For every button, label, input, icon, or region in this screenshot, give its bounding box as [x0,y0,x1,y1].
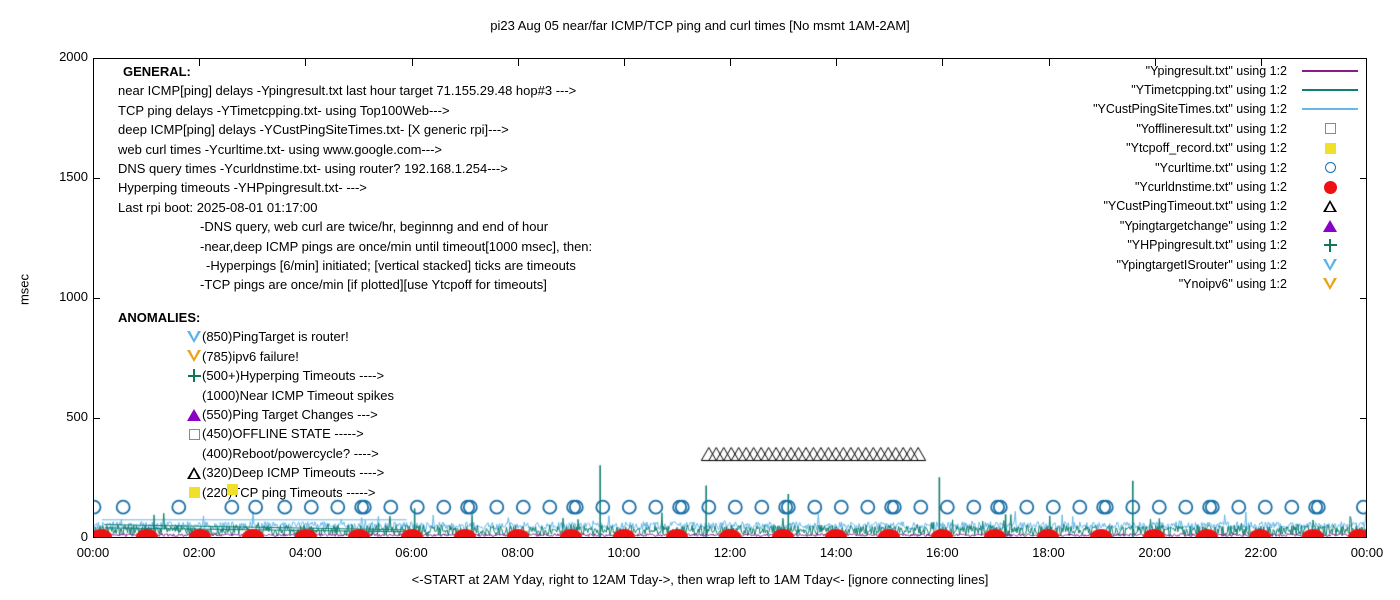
legend-entry-label: "Yofflineresult.txt" using 1:2 [1136,122,1287,136]
plus-marker [1324,239,1337,252]
triangle-down-open-marker [187,331,201,343]
legend-entry-label: "YHPpingresult.txt" using 1:2 [1127,238,1287,252]
legend-entry: "YCustPingTimeout.txt" using 1:2 [1007,197,1367,216]
legend-entry-sample [1293,197,1367,216]
anomaly-label: (320)Deep ICMP Timeouts ----> [202,465,384,480]
legend-line-swatch [1302,89,1358,91]
square-filled-marker [189,487,200,498]
x-axis-tick-label: 00:00 [58,545,128,560]
anomaly-item: (550)Ping Target Changes ---> [118,405,538,424]
general-note-line: deep ICMP[ping] delays -YCustPingSiteTim… [118,120,758,139]
x-axis-tick-label: 08:00 [483,545,553,560]
anomaly-item: (850)PingTarget is router! [118,327,538,346]
triangle-up-filled-marker [187,409,201,421]
legend-entry-label: "Ycurltime.txt" using 1:2 [1155,161,1287,175]
legend-line-swatch [1302,108,1358,110]
legend-entry: "Yofflineresult.txt" using 1:2 [1007,119,1367,138]
general-note-line: Hyperping timeouts -YHPpingresult.txt- -… [118,178,758,197]
legend-entry-sample [1293,236,1367,255]
general-note-line: DNS query times -Ycurldnstime.txt- using… [118,159,758,178]
general-note-line: web curl times -Ycurltime.txt- using www… [118,140,758,159]
anomaly-label: (550)Ping Target Changes ---> [202,407,378,422]
anomaly-marker [186,463,202,482]
general-header: GENERAL: [118,62,758,81]
y-axis-tick-label: 0 [38,529,88,544]
anomaly-item: (400)Reboot/powercycle? ----> [118,444,538,463]
x-axis-tick-label: 10:00 [589,545,659,560]
legend-entry-sample [1293,255,1367,274]
legend-entry-label: "YpingtargetISrouter" using 1:2 [1116,258,1287,272]
triangle-down-open-orange-marker [1323,278,1337,290]
anomaly-item: (220)TCP ping Timeouts -----> [118,483,538,502]
general-note-subline: -DNS query, web curl are twice/hr, begin… [118,217,758,236]
anomaly-marker [186,347,202,366]
anomaly-item: (785)ipv6 failure! [118,347,538,366]
legend-entry-sample [1293,100,1367,119]
square-filled-marker [1325,143,1336,154]
legend-entry: "YCustPingSiteTimes.txt" using 1:2 [1007,100,1367,119]
general-note-subline: -near,deep ICMP pings are once/min until… [118,237,758,256]
legend-entry-label: "YCustPingSiteTimes.txt" using 1:2 [1093,102,1287,116]
x-axis-tick-label: 06:00 [377,545,447,560]
anomaly-item: (320)Deep ICMP Timeouts ----> [118,463,538,482]
tcp-timeout-square-marker [227,484,238,495]
general-note-subline: -TCP pings are once/min [if plotted][use… [118,275,758,294]
x-axis-tick-label: 12:00 [695,545,765,560]
anomaly-item: (1000)Near ICMP Timeout spikes [118,386,538,405]
x-axis-tick-label: 20:00 [1120,545,1190,560]
legend-entry-label: "Ypingresult.txt" using 1:2 [1146,64,1287,78]
y-axis-tick-label: 2000 [38,49,88,64]
anomaly-marker [186,405,202,424]
triangle-down-open-marker [1323,259,1337,271]
square-open-marker [1325,123,1336,134]
legend-entry: "YHPpingresult.txt" using 1:2 [1007,236,1367,255]
x-axis-tick-label: 00:00 [1332,545,1400,560]
legend-entry-sample [1293,80,1367,99]
triangle-up-open-marker [1323,200,1337,212]
legend-entry: "Ypingtargetchange" using 1:2 [1007,216,1367,235]
x-axis-tick-label: 04:00 [270,545,340,560]
general-note-line: TCP ping delays -YTimetcpping.txt- using… [118,101,758,120]
general-note-line: Last rpi boot: 2025-08-01 01:17:00 [118,198,758,217]
general-note-subline: -Hyperpings [6/min] initiated; [vertical… [118,256,758,275]
legend-entry: "Ycurldnstime.txt" using 1:2 [1007,177,1367,196]
chart-title: pi23 Aug 05 near/far ICMP/TCP ping and c… [0,18,1400,33]
y-axis-tick-label: 1000 [38,289,88,304]
anomaly-label: (1000)Near ICMP Timeout spikes [202,388,394,403]
anomaly-label: (785)ipv6 failure! [202,349,299,364]
legend-entry: "YpingtargetISrouter" using 1:2 [1007,255,1367,274]
legend-entry-sample [1293,274,1367,293]
anomaly-marker [186,483,202,502]
legend-entry: "Ytcpoff_record.txt" using 1:2 [1007,139,1367,158]
legend-entry-sample [1293,139,1367,158]
circle-open-marker [1325,162,1336,173]
legend-entry-sample [1293,158,1367,177]
anomaly-item: (450)OFFLINE STATE -----> [118,424,538,443]
triangle-up-open-marker [187,467,201,479]
triangle-up-filled-marker [1323,220,1337,232]
legend-entry-label: "Ycurldnstime.txt" using 1:2 [1135,180,1287,194]
legend-entry: "Ycurltime.txt" using 1:2 [1007,158,1367,177]
anomaly-item: (500+)Hyperping Timeouts ----> [118,366,538,385]
chart-page: pi23 Aug 05 near/far ICMP/TCP ping and c… [0,0,1400,600]
anomaly-marker [186,327,202,346]
legend: "Ypingresult.txt" using 1:2"YTimetcpping… [1007,61,1367,294]
anomaly-label: (450)OFFLINE STATE -----> [202,426,364,441]
anomaly-label: (400)Reboot/powercycle? ----> [202,446,379,461]
legend-entry-label: "Ytcpoff_record.txt" using 1:2 [1126,141,1287,155]
general-notes-block: GENERAL: near ICMP[ping] delays -Ypingre… [118,62,758,295]
legend-entry-sample [1293,61,1367,80]
x-axis-label: <-START at 2AM Yday, right to 12AM Tday-… [0,572,1400,587]
x-axis-tick-label: 16:00 [907,545,977,560]
x-axis-tick-label: 02:00 [164,545,234,560]
square-open-marker [189,429,200,440]
legend-entry-label: "Ypingtargetchange" using 1:2 [1120,219,1287,233]
legend-entry: "YTimetcpping.txt" using 1:2 [1007,80,1367,99]
anomaly-label: (500+)Hyperping Timeouts ----> [202,368,384,383]
legend-entry-label: "Ynoipv6" using 1:2 [1179,277,1287,291]
legend-line-swatch [1302,70,1358,72]
legend-entry-sample [1293,216,1367,235]
general-note-line: near ICMP[ping] delays -Ypingresult.txt … [118,81,758,100]
anomalies-header: ANOMALIES: [118,308,538,327]
anomaly-marker [186,424,202,443]
legend-entry-label: "YTimetcpping.txt" using 1:2 [1131,83,1287,97]
legend-entry-sample [1293,177,1367,196]
triangle-down-open-orange-marker [187,350,201,362]
legend-entry: "Ynoipv6" using 1:2 [1007,274,1367,293]
circle-filled-marker [1324,181,1337,194]
y-axis-tick-label: 500 [38,409,88,424]
anomalies-block: ANOMALIES: (850)PingTarget is router!(78… [118,308,538,502]
x-axis-tick-label: 22:00 [1226,545,1296,560]
anomaly-label: (850)PingTarget is router! [202,329,349,344]
y-axis-label: msec [17,260,32,320]
anomaly-marker [186,386,202,405]
plus-marker [188,369,201,382]
y-axis-tick-label: 1500 [38,169,88,184]
x-axis-tick-label: 18:00 [1014,545,1084,560]
legend-entry-label: "YCustPingTimeout.txt" using 1:2 [1104,199,1288,213]
legend-entry: "Ypingresult.txt" using 1:2 [1007,61,1367,80]
legend-entry-sample [1293,119,1367,138]
anomaly-marker [186,444,202,463]
anomaly-marker [186,366,202,385]
x-axis-tick-label: 14:00 [801,545,871,560]
